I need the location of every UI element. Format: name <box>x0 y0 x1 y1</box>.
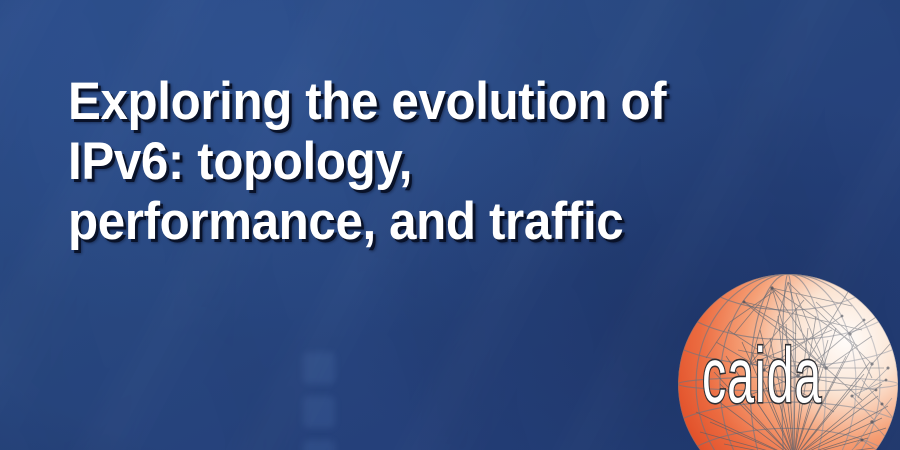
decorative-squares-group <box>303 348 339 450</box>
deco-square-3 <box>303 440 335 450</box>
title-line-3: performance, and traffic <box>68 192 803 252</box>
title-line-1: Exploring the evolution of <box>68 72 803 132</box>
globe-icon <box>676 272 900 450</box>
caida-logo[interactable]: caida <box>676 272 900 450</box>
deco-square-1 <box>303 352 335 384</box>
title-slide: Exploring the evolution of IPv6: topolog… <box>0 0 900 450</box>
title-line-2: IPv6: topology, <box>68 132 803 192</box>
deco-square-2 <box>303 396 335 428</box>
page-title: Exploring the evolution of IPv6: topolog… <box>68 72 858 252</box>
